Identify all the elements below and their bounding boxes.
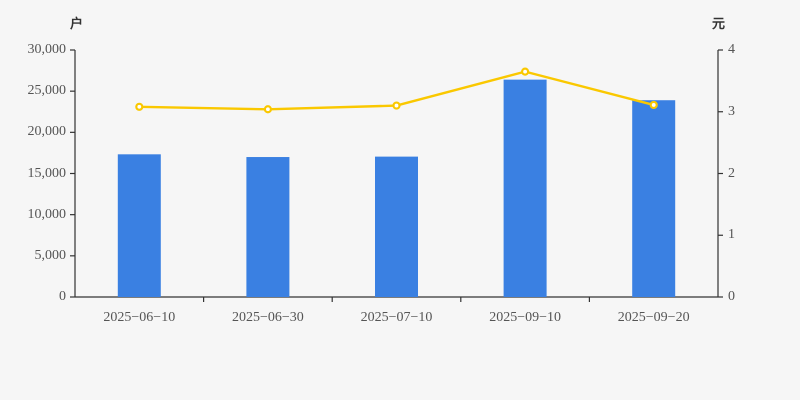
right-axis-ticks [718,50,723,297]
line-marker[interactable] [394,103,400,109]
left-axis-ticks [70,50,75,297]
chart-container: 户 元 05,00010,00015,00020,00025,00030,000… [0,0,800,400]
line-marker[interactable] [136,104,142,110]
line-markers [136,69,656,113]
line-marker[interactable] [265,106,271,112]
bar[interactable] [118,154,161,297]
line-marker[interactable] [522,69,528,75]
line-marker[interactable] [651,102,657,108]
bar[interactable] [632,100,675,297]
plot-area [0,0,800,400]
bar[interactable] [246,157,289,297]
bar-series [118,80,675,297]
bar[interactable] [504,80,547,297]
bar[interactable] [375,157,418,297]
x-axis-ticks [204,297,590,302]
